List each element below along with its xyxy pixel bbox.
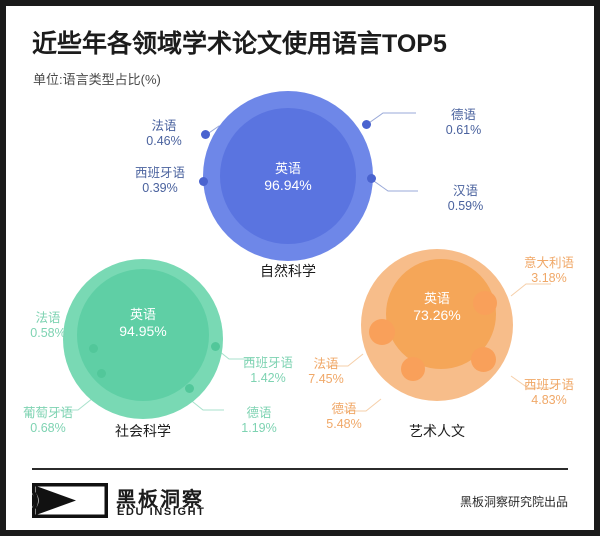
natural-science-dot-3 [362,120,371,129]
leaf-arts-humanities-1: 德语 5.48% [316,402,372,432]
leaf-name: 葡萄牙语 [6,406,98,421]
leaf-name: 法语 [114,119,214,134]
social-science-main-name: 英语 [130,307,156,322]
leaf-name: 法语 [298,357,354,372]
arts-humanities-dot-2 [401,357,425,381]
leaf-value: 0.39% [106,181,214,196]
leaf-arts-humanities-0: 法语 7.45% [298,357,354,387]
leaf-name: 西班牙语 [506,378,592,393]
leaf-value: 5.48% [316,417,372,432]
leaf-natural-science-0: 德语 0.61% [416,108,511,138]
social-science-dot-3 [185,384,194,393]
natural-science-main-label: 英语 96.94% [203,161,373,194]
footer-divider [32,468,568,470]
leaf-arts-humanities-2: 西班牙语 4.83% [506,378,592,408]
leaf-value: 0.61% [416,123,511,138]
infographic-frame: 近些年各领域学术论文使用语言TOP5 单位:语言类型占比(%) [6,6,594,530]
leaf-natural-science-1: 汉语 0.59% [418,184,513,214]
arts-humanities-main-name: 英语 [424,291,450,306]
leaf-value: 0.59% [418,199,513,214]
leaf-social-science-2: 葡萄牙语 0.68% [6,406,98,436]
leaf-natural-science-2: 法语 0.46% [114,119,214,149]
leaf-arts-humanities-3: 意大利语 3.18% [506,256,592,286]
leaf-value: 3.18% [506,271,592,286]
social-science-dot-1 [89,344,98,353]
leaf-natural-science-3: 西班牙语 0.39% [106,166,214,196]
bubble-group-arts-humanities[interactable]: 英语 73.26% [361,249,513,401]
arts-humanities-main-label: 英语 73.26% [361,291,513,324]
leaf-value: 0.58% [8,326,88,341]
leaf-social-science-3: 法语 0.58% [8,311,88,341]
leaf-value: 7.45% [298,372,354,387]
social-science-main-value: 94.95% [119,323,166,339]
category-title-natural-science: 自然科学 [228,261,348,281]
category-title-social-science: 社会科学 [83,421,203,441]
leaf-name: 德语 [316,402,372,417]
leaf-value: 0.68% [6,421,98,436]
natural-science-main-value: 96.94% [264,177,311,193]
arts-humanities-main-value: 73.26% [413,307,460,323]
footer-credit: 黑板洞察研究院出品 [460,493,568,510]
leaf-name: 法语 [8,311,88,326]
leaf-name: 意大利语 [506,256,592,271]
arts-humanities-dot-4 [471,347,496,372]
social-science-dot-2 [97,369,106,378]
leaf-name: 汉语 [418,184,513,199]
bubble-group-natural-science[interactable]: 英语 96.94% [203,91,373,261]
natural-science-main-name: 英语 [275,161,301,176]
leaf-name: 德语 [416,108,511,123]
leaf-value: 0.46% [114,134,214,149]
leaf-value: 1.19% [219,421,299,436]
category-title-arts-humanities: 艺术人文 [377,421,497,441]
logo-text-en: EDU INSIGHT [117,506,206,518]
leaf-social-science-1: 德语 1.19% [219,406,299,436]
leaf-name: 德语 [219,406,299,421]
leaf-value: 4.83% [506,393,592,408]
edu-insight-logo-icon [32,483,108,518]
leaf-name: 西班牙语 [106,166,214,181]
bubble-chart: 英语 96.94% 自然科学 德语 0.61% 汉语 0.59% 法语 0.46… [6,6,594,530]
social-science-dot-4 [211,342,220,351]
